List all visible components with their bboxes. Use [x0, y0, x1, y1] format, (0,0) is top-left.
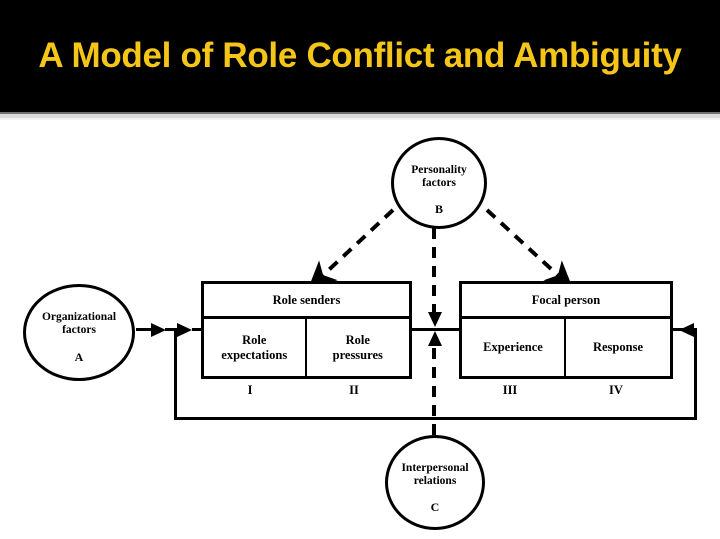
arrowhead-interpersonal-into-center — [428, 331, 442, 346]
arrowhead-from-organizational-factors — [151, 323, 166, 337]
circle-personality-factors[interactable]: Personality factors B — [391, 137, 487, 229]
dashed-arrow-b-to-role-senders — [319, 210, 393, 279]
circle-b-title-line2: factors — [394, 177, 484, 190]
cell-role-expectations-line2: expectations — [221, 348, 287, 363]
box-role-senders[interactable]: Role senders Role expectations Role pres… — [201, 281, 412, 379]
circle-a-title-line2: factors — [26, 324, 132, 337]
feedback-loop-left-riser — [174, 328, 177, 420]
box-focal-person-cells: Experience Response — [462, 319, 670, 376]
box-role-senders-header: Role senders — [204, 284, 409, 319]
cell-role-expectations-line1: Role — [221, 333, 287, 348]
feedback-loop-right-riser — [694, 328, 697, 420]
diagram-canvas: Personality factors B Organizational fac… — [0, 120, 720, 539]
box-focal-person-header: Focal person — [462, 284, 670, 319]
roman-numeral-iii: III — [490, 383, 530, 398]
circle-organizational-factors[interactable]: Organizational factors A — [23, 284, 135, 381]
cell-role-expectations[interactable]: Role expectations — [204, 319, 307, 376]
cell-experience[interactable]: Experience — [462, 319, 566, 376]
circle-a-title-line1: Organizational — [26, 311, 132, 324]
circle-b-title-line1: Personality — [394, 164, 484, 177]
roman-numeral-ii: II — [334, 383, 374, 398]
cell-experience-line1: Experience — [483, 340, 543, 355]
circle-c-letter: C — [388, 500, 482, 515]
box-role-senders-cells: Role expectations Role pressures — [204, 319, 409, 376]
cell-role-pressures-line1: Role — [333, 333, 383, 348]
box-focal-person[interactable]: Focal person Experience Response — [459, 281, 673, 379]
slide-title-band: A Model of Role Conflict and Ambiguity — [0, 0, 720, 112]
circle-b-letter: B — [394, 202, 484, 217]
circle-interpersonal-relations[interactable]: Interpersonal relations C — [385, 435, 485, 530]
dashed-arrow-b-to-focal-person — [487, 210, 562, 279]
arrowhead-into-role-senders — [177, 323, 192, 337]
circle-c-title-line1: Interpersonal — [388, 462, 482, 475]
roman-numeral-iv: IV — [596, 383, 636, 398]
page-title: A Model of Role Conflict and Ambiguity — [38, 36, 681, 76]
circle-a-letter: A — [26, 350, 132, 365]
cell-response[interactable]: Response — [566, 319, 670, 376]
roman-numeral-i: I — [230, 383, 270, 398]
cell-response-line1: Response — [593, 340, 643, 355]
arrowhead-feedback-into-focal-person — [679, 323, 694, 337]
cell-role-pressures[interactable]: Role pressures — [307, 319, 410, 376]
arrowhead-personality-into-center — [428, 312, 442, 327]
circle-c-title-line2: relations — [388, 475, 482, 488]
feedback-loop-bottom-line — [174, 417, 697, 420]
connector-a-stub-1 — [136, 328, 152, 331]
cell-role-pressures-line2: pressures — [333, 348, 383, 363]
